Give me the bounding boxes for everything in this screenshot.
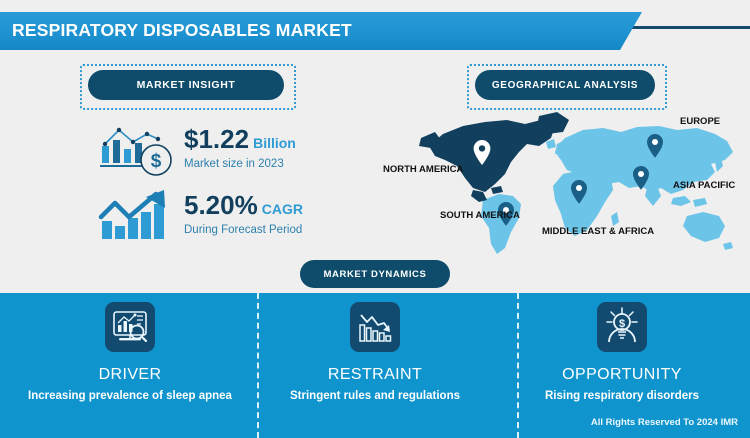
market-dynamics-badge: MARKET DYNAMICS: [300, 260, 450, 288]
page-title: RESPIRATORY DISPOSABLES MARKET: [12, 20, 352, 41]
geographical-analysis-badge-label: GEOGRAPHICAL ANALYSIS: [492, 80, 638, 91]
declining-chart-icon: [349, 301, 401, 353]
restraint-description: Stringent rules and regulations: [250, 390, 500, 402]
cagr-unit: CAGR: [262, 201, 303, 217]
bar-chart-dollar-icon: $: [98, 122, 176, 178]
market-insight-badge-label: MARKET INSIGHT: [137, 79, 236, 91]
driver-title: DRIVER: [5, 366, 255, 384]
svg-text:$: $: [151, 151, 162, 172]
copyright-note: All Rights Reserved To 2024 IMR: [591, 417, 738, 428]
stat-cagr: 5.20% CAGR During Forecast Period: [98, 188, 176, 249]
map-label-europe: EUROPE: [680, 116, 720, 127]
driver-description: Increasing prevalence of sleep apnea: [5, 390, 255, 402]
infographic-root: RESPIRATORY DISPOSABLES MARKET MARKET IN…: [0, 0, 750, 438]
market-size-caption: Market size in 2023: [184, 158, 296, 170]
market-size-unit: Billion: [253, 135, 296, 151]
stat-market-size: $ $1.22 Billion Market size in 2023: [98, 122, 176, 183]
market-dynamics-badge-label: MARKET DYNAMICS: [324, 269, 427, 280]
map-label-asia-pacific: ASIA PACIFIC: [673, 180, 735, 191]
restraint-icon-wrap: [349, 301, 401, 358]
header: RESPIRATORY DISPOSABLES MARKET: [0, 6, 750, 52]
map-label-south-america: SOUTH AMERICA: [440, 210, 520, 221]
header-accent-line: [620, 26, 750, 29]
lightbulb-dollar-icon: $: [596, 301, 648, 353]
market-size-value: $1.22: [184, 126, 249, 152]
world-map: NORTH AMERICA EUROPE ASIA PACIFIC SOUTH …: [415, 108, 750, 258]
map-region-south-america: [481, 194, 521, 254]
geographical-analysis-badge: GEOGRAPHICAL ANALYSIS: [475, 70, 655, 100]
driver-icon-wrap: [104, 301, 156, 358]
cagr-caption: During Forecast Period: [184, 224, 303, 236]
dynamics-column-driver: DRIVER Increasing prevalence of sleep ap…: [5, 293, 255, 438]
dynamics-column-restraint: RESTRAINT Stringent rules and regulation…: [250, 293, 500, 438]
map-label-north-america: NORTH AMERICA: [383, 164, 463, 175]
cagr-value: 5.20%: [184, 192, 258, 218]
map-region-australia: [683, 212, 725, 242]
map-region-north-america: [429, 120, 555, 192]
opportunity-title: OPPORTUNITY: [497, 366, 747, 384]
map-label-middle-east-africa: MIDDLE EAST & AFRICA: [542, 226, 654, 237]
growth-arrow-chart-icon: [98, 188, 176, 244]
market-insight-badge: MARKET INSIGHT: [88, 70, 284, 100]
analytics-screen-search-icon: [104, 301, 156, 353]
restraint-title: RESTRAINT: [250, 366, 500, 384]
opportunity-description: Rising respiratory disorders: [497, 390, 747, 402]
opportunity-icon-wrap: $: [596, 301, 648, 358]
